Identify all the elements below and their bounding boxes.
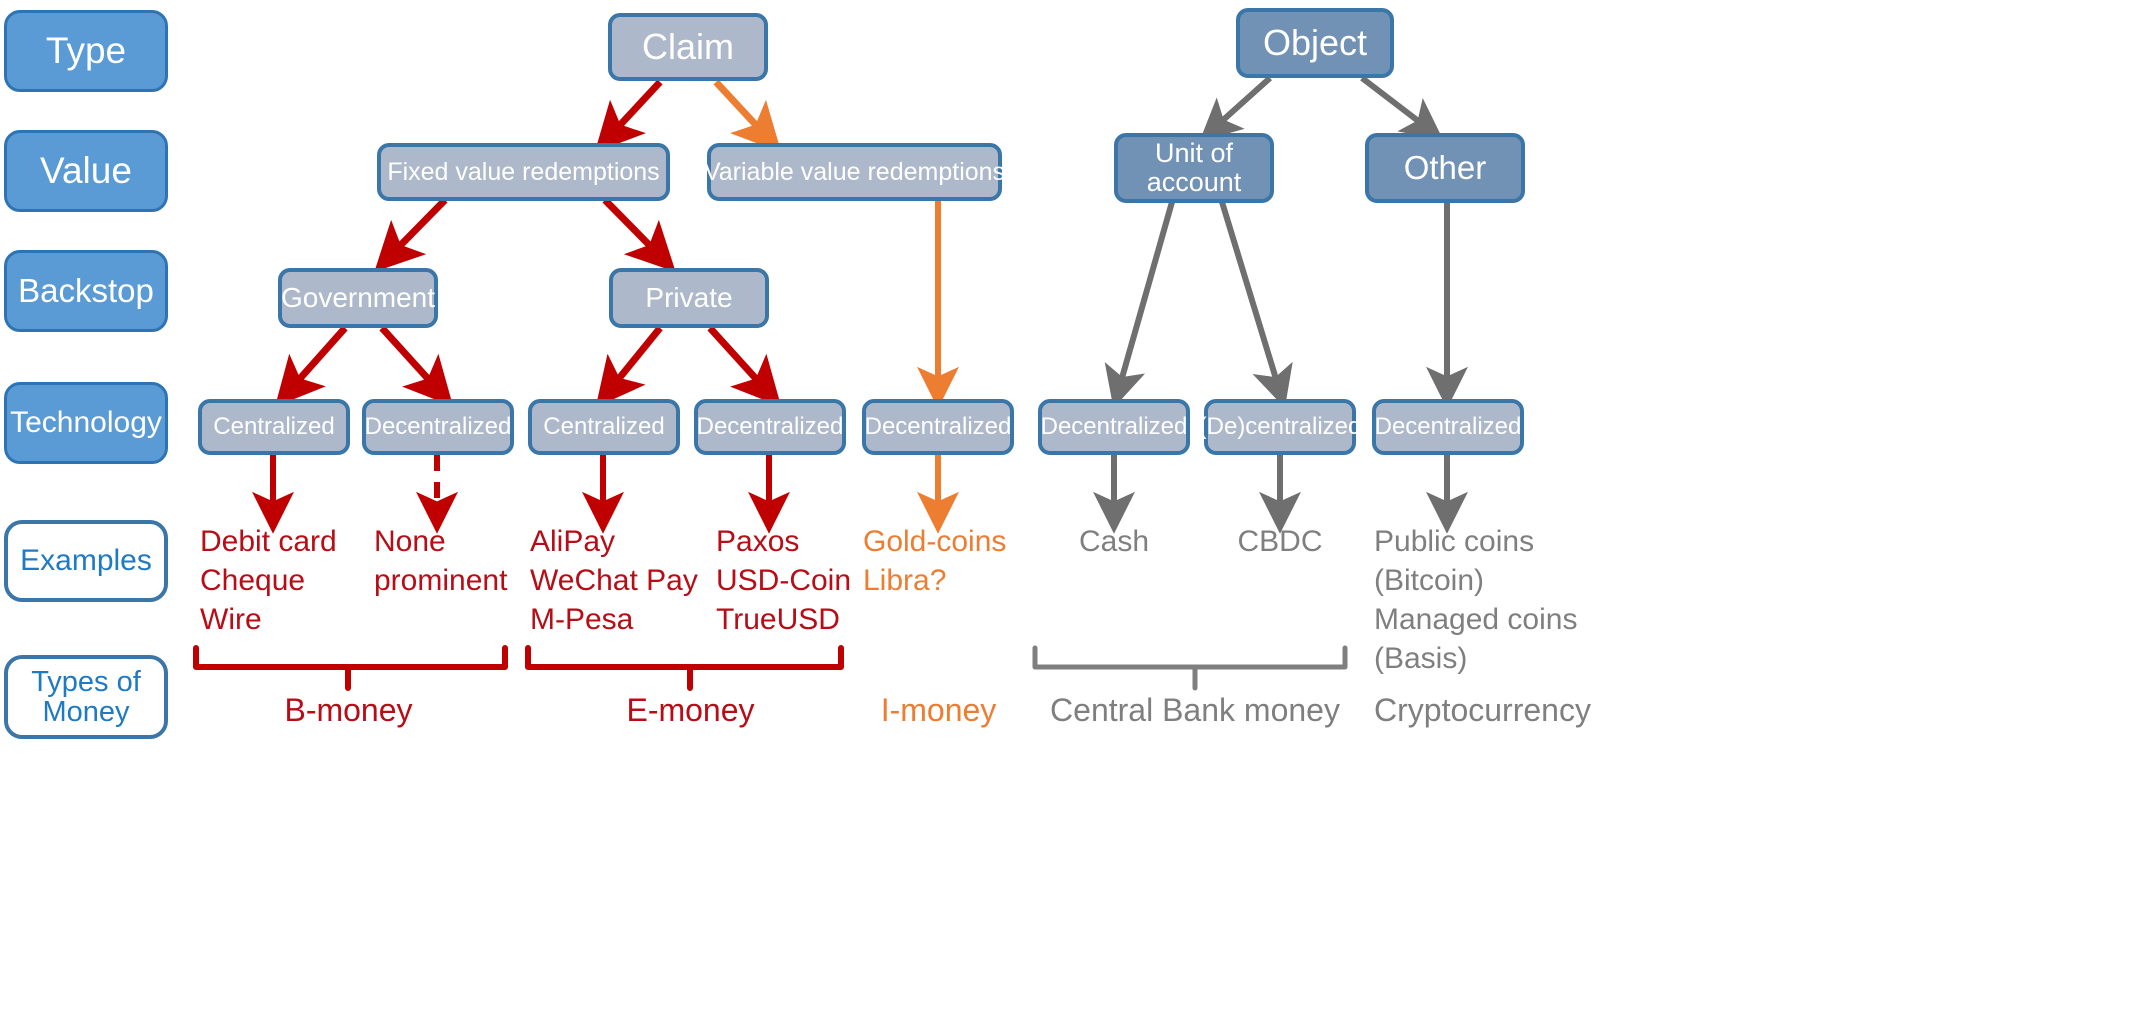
node-government[interactable]: Government <box>278 268 438 328</box>
node-label-tech-priv-centralized: Centralized <box>543 414 664 440</box>
money-type-i-money: I-money <box>836 690 1041 732</box>
example-cbdc: CBDC <box>1204 522 1356 561</box>
node-label-tech-uoa-decentralized: Decentralized <box>1041 414 1188 440</box>
arrow-object-to-unit <box>1212 78 1270 130</box>
node-tech-other-decentralized[interactable]: Decentralized <box>1372 399 1524 455</box>
node-label-tech-gov-centralized: Centralized <box>213 414 334 440</box>
arrow-private-to-decentralized <box>710 328 768 392</box>
node-label-tech-variable-decentralized: Decentralized <box>865 414 1012 440</box>
node-label-government: Government <box>281 283 435 313</box>
rail-item-examples[interactable]: Examples <box>4 520 168 602</box>
node-unit-of-account[interactable]: Unit of account <box>1114 133 1274 203</box>
node-label-variable-value: Variable value redemptions <box>704 159 1005 186</box>
node-tech-uoa-decentralized[interactable]: Decentralized <box>1038 399 1190 455</box>
rail-item-technology[interactable]: Technology <box>4 382 168 464</box>
rail-item-type[interactable]: Type <box>4 10 168 92</box>
diagram-canvas: Type Value Backstop Technology Examples … <box>0 0 2145 1033</box>
money-type-e-money: E-money <box>588 690 793 732</box>
node-tech-uoa-decentralized2[interactable]: (De)centralized <box>1204 399 1356 455</box>
money-type-b-money: B-money <box>246 690 451 732</box>
rail-label-technology: Technology <box>10 407 162 439</box>
node-label-unit-of-account: Unit of account <box>1147 139 1242 197</box>
node-label-tech-gov-decentralized: Decentralized <box>365 414 512 440</box>
node-claim[interactable]: Claim <box>608 13 768 81</box>
example-cryptocurrency: Public coins (Bitcoin) Managed coins (Ba… <box>1374 522 1614 678</box>
node-tech-gov-decentralized[interactable]: Decentralized <box>362 399 514 455</box>
arrow-claim-to-fixed <box>608 82 660 138</box>
node-tech-priv-centralized[interactable]: Centralized <box>528 399 680 455</box>
arrow-object-to-other <box>1362 78 1430 130</box>
arrow-government-to-decentralized <box>382 328 440 392</box>
arrow-government-to-centralized <box>288 328 345 392</box>
node-tech-priv-decentralized[interactable]: Decentralized <box>694 399 846 455</box>
example-i-money: Gold-coins Libra? <box>863 522 1043 600</box>
arrow-unit-to-decentralized2 <box>1222 202 1280 392</box>
node-fixed-value-redemptions[interactable]: Fixed value redemptions <box>377 143 670 201</box>
money-type-central-bank-money: Central Bank money <box>1040 690 1350 732</box>
rail-item-backstop[interactable]: Backstop <box>4 250 168 332</box>
example-b-centralized: Debit card Cheque Wire <box>200 522 370 639</box>
connector-layer <box>0 0 2145 1033</box>
example-b-decentralized: None prominent <box>374 522 554 600</box>
node-variable-value-redemptions[interactable]: Variable value redemptions <box>707 143 1002 201</box>
money-type-cryptocurrency: Cryptocurrency <box>1374 690 1634 732</box>
example-e-centralized: AliPay WeChat Pay M-Pesa <box>530 522 730 639</box>
node-label-tech-other-decentralized: Decentralized <box>1375 414 1522 440</box>
arrow-fixed-to-private <box>605 200 662 258</box>
node-label-fixed-value: Fixed value redemptions <box>387 159 659 186</box>
node-label-other: Other <box>1404 150 1487 186</box>
rail-label-value: Value <box>40 152 132 191</box>
node-object[interactable]: Object <box>1236 8 1394 78</box>
node-label-claim: Claim <box>642 28 734 67</box>
rail-item-types-of-money[interactable]: Types of Money <box>4 655 168 739</box>
node-label-tech-priv-decentralized: Decentralized <box>697 414 844 440</box>
rail-label-examples: Examples <box>20 545 152 577</box>
brace-e-money <box>528 648 841 688</box>
arrow-claim-to-variable <box>716 82 768 138</box>
arrow-private-to-centralized <box>608 328 660 392</box>
brace-central-bank-money <box>1035 648 1345 688</box>
rail-label-backstop: Backstop <box>18 274 154 309</box>
example-cash: Cash <box>1038 522 1190 561</box>
brace-b-money <box>196 648 505 688</box>
rail-label-type: Type <box>46 32 126 71</box>
node-tech-variable-decentralized[interactable]: Decentralized <box>862 399 1014 455</box>
arrow-fixed-to-government <box>388 200 445 258</box>
rail-label-types-of-money: Types of Money <box>31 667 141 728</box>
node-label-tech-uoa-decentralized2: (De)centralized <box>1199 414 1362 440</box>
node-tech-gov-centralized[interactable]: Centralized <box>198 399 350 455</box>
node-label-private: Private <box>645 283 732 313</box>
arrow-unit-to-decentralized <box>1118 202 1172 392</box>
node-label-object: Object <box>1263 24 1367 63</box>
node-other[interactable]: Other <box>1365 133 1525 203</box>
node-private[interactable]: Private <box>609 268 769 328</box>
rail-item-value[interactable]: Value <box>4 130 168 212</box>
